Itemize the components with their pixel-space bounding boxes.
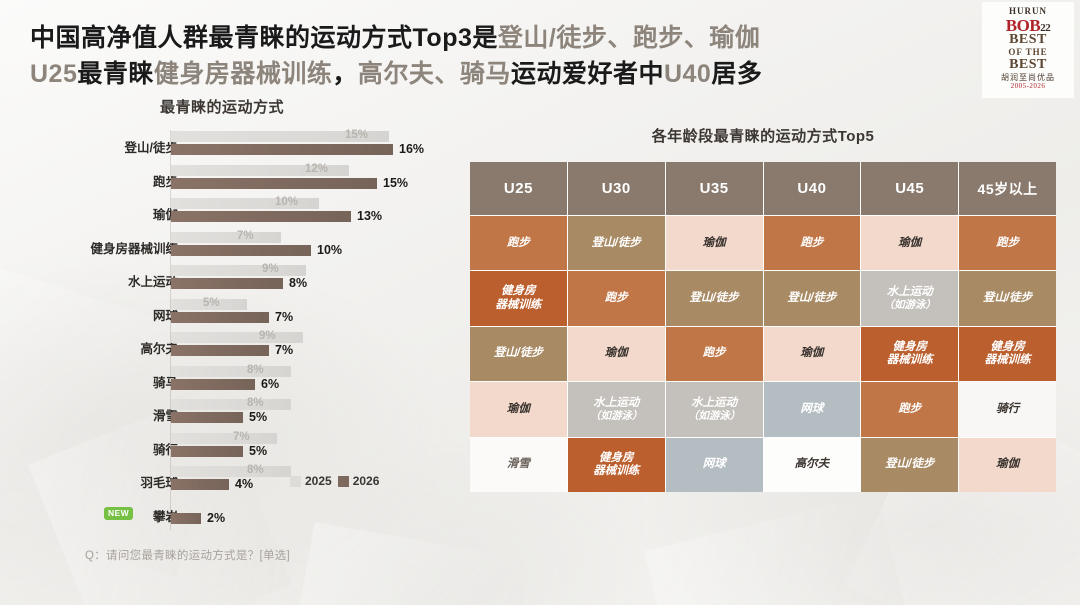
bar-row: 骑马8%6%	[30, 363, 450, 397]
matrix-cell-line-1: 登山/徒步	[787, 292, 836, 305]
bar-row: 水上运动9%8%	[30, 262, 450, 296]
bar-2026	[171, 312, 269, 323]
bar-2026	[171, 412, 243, 423]
headline-1-seg-0: 中国高净值人群最青睐的运动方式Top3是	[30, 24, 498, 52]
bar-group: 5%7%	[171, 299, 451, 327]
headline-2-seg-3: ，	[332, 60, 358, 88]
matrix-cell-line-1: 登山/徒步	[983, 292, 1032, 305]
bar-category-label: 健身房器械训练	[28, 238, 178, 257]
matrix-cell: 跑步	[666, 327, 763, 381]
matrix-cell: 登山/徒步	[861, 438, 958, 492]
legend-item-2026: 2026	[338, 474, 380, 488]
bar-value-2026: 2%	[207, 511, 225, 525]
matrix-cell: 瑜伽	[861, 216, 958, 270]
matrix-cell: 跑步	[470, 216, 567, 270]
matrix-cell-line-2: 器械训练	[593, 465, 639, 478]
matrix-cell: 水上运动（如游泳）	[861, 271, 958, 325]
matrix-cell-line-1: 跑步	[703, 347, 726, 360]
matrix-cell-line-1: 跑步	[898, 403, 921, 416]
bar-row: 骑行7%5%	[30, 430, 450, 464]
matrix-cell-line-1: 健身房	[593, 452, 639, 465]
bar-2026	[171, 144, 393, 155]
matrix-cell: 水上运动（如游泳）	[568, 382, 665, 436]
matrix-cell-line-1: 高尔夫	[795, 458, 830, 471]
logo-hurun-text: HURUN	[982, 7, 1074, 16]
bar-value-2025: 5%	[203, 297, 220, 309]
matrix-header-U45: U45	[861, 162, 958, 215]
matrix-cell: 健身房器械训练	[861, 327, 958, 381]
legend-label-2026: 2026	[353, 474, 380, 488]
matrix-cell: 网球	[764, 382, 861, 436]
bar-category-label: 登山/徒步	[28, 137, 178, 156]
survey-question-footnote: Q：请问您最青睐的运动方式是？[单选]	[85, 547, 290, 563]
bar-category-label: 跑步	[28, 171, 178, 190]
headline-2-seg-4: 高尔夫、骑马	[358, 60, 511, 88]
logo-the-text: THE	[1026, 47, 1048, 57]
bar-2026	[171, 245, 311, 256]
bar-value-2026: 15%	[383, 176, 408, 190]
matrix-cell-line-1: 登山/徒步	[885, 458, 934, 471]
matrix-cell-line-1: 网球	[703, 458, 726, 471]
bar-category-label: 羽毛球	[28, 472, 178, 491]
matrix-cell: 登山/徒步	[666, 271, 763, 325]
logo-best-top: BEST	[982, 33, 1074, 47]
bar-value-2025: 8%	[247, 397, 264, 409]
matrix-cell-line-1: 瑜伽	[996, 458, 1019, 471]
bar-row: 登山/徒步15%16%	[30, 128, 450, 162]
logo-years-text: 2005-2026	[982, 83, 1074, 90]
headline-1-seg-1: 登山/徒步、跑步、瑜伽	[498, 24, 760, 52]
matrix-cell: 健身房器械训练	[568, 438, 665, 492]
bar-2026	[171, 345, 269, 356]
page-title: 中国高净值人群最青睐的运动方式Top3是登山/徒步、跑步、瑜伽 U25最青睐健身…	[30, 20, 930, 92]
logo-best-bottom: BEST	[982, 58, 1074, 72]
bar-value-2026: 5%	[249, 444, 267, 458]
legend-swatch-2025	[290, 476, 301, 487]
headline-2-seg-2: 健身房器械训练	[154, 60, 333, 88]
matrix-cell-line-1: 跑步	[507, 237, 530, 250]
bar-value-2025: 8%	[247, 464, 264, 476]
bar-value-2026: 13%	[357, 209, 382, 223]
bar-row: 跑步12%15%	[30, 162, 450, 196]
logo-bob-text: BOB	[1006, 16, 1040, 35]
bar-value-2025: 7%	[233, 431, 250, 443]
matrix-cell: 滑雪	[470, 438, 567, 492]
matrix-cell: 跑步	[568, 271, 665, 325]
matrix-cell: 瑜伽	[959, 438, 1056, 492]
bar-category-label: 骑行	[28, 439, 178, 458]
matrix-header-U40: U40	[764, 162, 861, 215]
matrix-cell-line-2: （如游泳）	[688, 410, 741, 422]
matrix-cell: 登山/徒步	[568, 216, 665, 270]
headline-2-seg-7: 居多	[711, 60, 762, 88]
bar-row: 瑜伽10%13%	[30, 195, 450, 229]
matrix-cell-line-1: 瑜伽	[605, 347, 628, 360]
bar-value-2025: 12%	[305, 163, 328, 175]
logo-year-mark: 22	[1040, 22, 1050, 34]
legend-item-2025: 2025	[290, 474, 332, 488]
bar-group: 15%16%	[171, 131, 451, 159]
matrix-cell-line-1: 健身房	[495, 285, 541, 298]
bar-group: 9%8%	[171, 265, 451, 293]
bar-2026	[171, 513, 201, 524]
matrix-cell-line-2: 器械训练	[887, 354, 933, 367]
matrix-cell-line-1: 水上运动	[883, 286, 936, 299]
headline-2-seg-1: 最青睐	[77, 60, 154, 88]
bar-group: 12%15%	[171, 165, 451, 193]
matrix-cell: 跑步	[764, 216, 861, 270]
bar-2026	[171, 178, 377, 189]
chart-legend: 2025 2026	[290, 474, 379, 488]
matrix-cell: 瑜伽	[666, 216, 763, 270]
slide-header: 中国高净值人群最青睐的运动方式Top3是登山/徒步、跑步、瑜伽 U25最青睐健身…	[0, 0, 1080, 100]
bar-row: 羽毛球8%4%	[30, 463, 450, 497]
bar-2025	[171, 433, 277, 444]
bar-category-label: 骑马	[28, 372, 178, 391]
bar-value-2026: 7%	[275, 310, 293, 324]
bar-chart-panel: 最青睐的运动方式 登山/徒步15%16%跑步12%15%瑜伽10%13%健身房器…	[30, 92, 450, 562]
bar-category-label: 瑜伽	[28, 204, 178, 223]
bar-group: 7%10%	[171, 232, 451, 260]
matrix-cell: 瑜伽	[764, 327, 861, 381]
bar-value-2026: 8%	[289, 276, 307, 290]
matrix-cell: 瑜伽	[470, 382, 567, 436]
matrix-cell-line-1: 登山/徒步	[689, 292, 738, 305]
bar-2025	[171, 332, 303, 343]
matrix-cell-line-1: 跑步	[800, 237, 823, 250]
headline-2-seg-5: 运动爱好者中	[511, 60, 664, 88]
legend-label-2025: 2025	[305, 474, 332, 488]
bar-value-2025: 8%	[247, 364, 264, 376]
matrix-cell-line-1: 登山/徒步	[592, 237, 641, 250]
bar-row: 滑雪8%5%	[30, 396, 450, 430]
bar-group: 2%	[171, 500, 451, 528]
bar-value-2025: 9%	[262, 263, 279, 275]
hurun-bob-logo: HURUN BOB22 BEST OF THE BEST 胡润至尚优品 2005…	[982, 2, 1074, 98]
matrix-cell: 网球	[666, 438, 763, 492]
matrix-cell-line-2: （如游泳）	[590, 410, 643, 422]
matrix-header-U25: U25	[470, 162, 567, 215]
bar-category-label: 高尔夫	[28, 338, 178, 357]
matrix-cell-line-1: 健身房	[985, 341, 1031, 354]
bar-value-2025: 7%	[237, 230, 254, 242]
bar-value-2026: 4%	[235, 477, 253, 491]
matrix-cell-line-1: 水上运动	[688, 397, 741, 410]
headline-2-seg-6: U40	[664, 60, 711, 88]
bar-group: 10%13%	[171, 198, 451, 226]
bar-chart-title: 最青睐的运动方式	[160, 96, 284, 117]
slide-page: 中国高净值人群最青睐的运动方式Top3是登山/徒步、跑步、瑜伽 U25最青睐健身…	[0, 0, 1080, 605]
bar-group: 9%7%	[171, 332, 451, 360]
matrix-cell: 骑行	[959, 382, 1056, 436]
matrix-cell-line-1: 网球	[800, 403, 823, 416]
matrix-title: 各年龄段最青睐的运动方式Top5	[462, 125, 1064, 146]
bar-category-label: 水上运动	[28, 271, 178, 290]
bar-group: 7%5%	[171, 433, 451, 461]
bar-value-2025: 10%	[275, 196, 298, 208]
bar-value-2026: 7%	[275, 343, 293, 357]
matrix-cell: 高尔夫	[764, 438, 861, 492]
matrix-cell-line-1: 骑行	[996, 403, 1019, 416]
bar-2025	[171, 265, 306, 276]
bar-2025	[171, 466, 291, 477]
bar-category-label: 滑雪	[28, 405, 178, 424]
bar-row: 健身房器械训练7%10%	[30, 229, 450, 263]
legend-swatch-2026	[338, 476, 349, 487]
headline-line-2: U25最青睐健身房器械训练，高尔夫、骑马运动爱好者中U40居多	[30, 56, 930, 92]
matrix-cell: 跑步	[959, 216, 1056, 270]
matrix-cell-line-2: 器械训练	[985, 354, 1031, 367]
matrix-cell-line-1: 跑步	[605, 292, 628, 305]
bar-2026	[171, 479, 229, 490]
matrix-header-U35: U35	[666, 162, 763, 215]
bar-group: 8%5%	[171, 399, 451, 427]
matrix-cell-line-1: 滑雪	[507, 458, 530, 471]
bar-2026	[171, 379, 255, 390]
bar-category-label: 攀岩	[28, 506, 178, 525]
matrix-cell: 登山/徒步	[470, 327, 567, 381]
bar-value-2026: 10%	[317, 243, 342, 257]
matrix-cell-line-1: 瑜伽	[898, 237, 921, 250]
bar-value-2026: 5%	[249, 410, 267, 424]
age-sport-matrix: U25U30U35U40U4545岁以上跑步登山/徒步瑜伽跑步瑜伽跑步健身房器械…	[470, 162, 1056, 492]
bar-value-2025: 15%	[345, 129, 368, 141]
bar-2025	[171, 366, 291, 377]
age-matrix-panel: 各年龄段最青睐的运动方式Top5 U25U30U35U40U4545岁以上跑步登…	[462, 125, 1064, 495]
matrix-cell-line-2: 器械训练	[495, 299, 541, 312]
matrix-cell-line-1: 水上运动	[590, 397, 643, 410]
matrix-cell-line-1: 跑步	[996, 237, 1019, 250]
matrix-cell-line-1: 登山/徒步	[494, 347, 543, 360]
matrix-cell-line-1: 瑜伽	[507, 403, 530, 416]
bar-value-2026: 6%	[261, 377, 279, 391]
matrix-cell: 登山/徒步	[764, 271, 861, 325]
logo-of-text: OF	[1008, 47, 1022, 57]
bar-value-2025: 9%	[259, 330, 276, 342]
matrix-header-U30: U30	[568, 162, 665, 215]
matrix-cell: 健身房器械训练	[959, 327, 1056, 381]
logo-bob-row: BOB22	[982, 17, 1074, 33]
bar-value-2026: 16%	[399, 142, 424, 156]
matrix-cell-line-1: 健身房	[887, 341, 933, 354]
logo-chinese-text: 胡润至尚优品	[982, 74, 1074, 82]
headline-line-1: 中国高净值人群最青睐的运动方式Top3是登山/徒步、跑步、瑜伽	[30, 20, 930, 56]
bar-chart-bars: 登山/徒步15%16%跑步12%15%瑜伽10%13%健身房器械训练7%10%水…	[30, 128, 450, 530]
bar-row: 网球5%7%	[30, 296, 450, 330]
bar-row: 高尔夫9%7%	[30, 329, 450, 363]
matrix-cell-line-2: （如游泳）	[883, 299, 936, 311]
matrix-cell-line-1: 瑜伽	[703, 237, 726, 250]
bar-2025	[171, 232, 281, 243]
matrix-cell: 瑜伽	[568, 327, 665, 381]
matrix-cell: 健身房器械训练	[470, 271, 567, 325]
bar-2026	[171, 446, 243, 457]
headline-2-seg-0: U25	[30, 60, 77, 88]
matrix-header-45岁以上: 45岁以上	[959, 162, 1056, 215]
bar-row: NEW攀岩2%	[30, 497, 450, 531]
bar-category-label: 网球	[28, 305, 178, 324]
matrix-cell: 跑步	[861, 382, 958, 436]
matrix-cell: 登山/徒步	[959, 271, 1056, 325]
matrix-cell-line-1: 瑜伽	[800, 347, 823, 360]
bar-2025	[171, 399, 291, 410]
matrix-cell: 水上运动（如游泳）	[666, 382, 763, 436]
bar-group: 8%6%	[171, 366, 451, 394]
bar-2026	[171, 278, 283, 289]
bar-2026	[171, 211, 351, 222]
